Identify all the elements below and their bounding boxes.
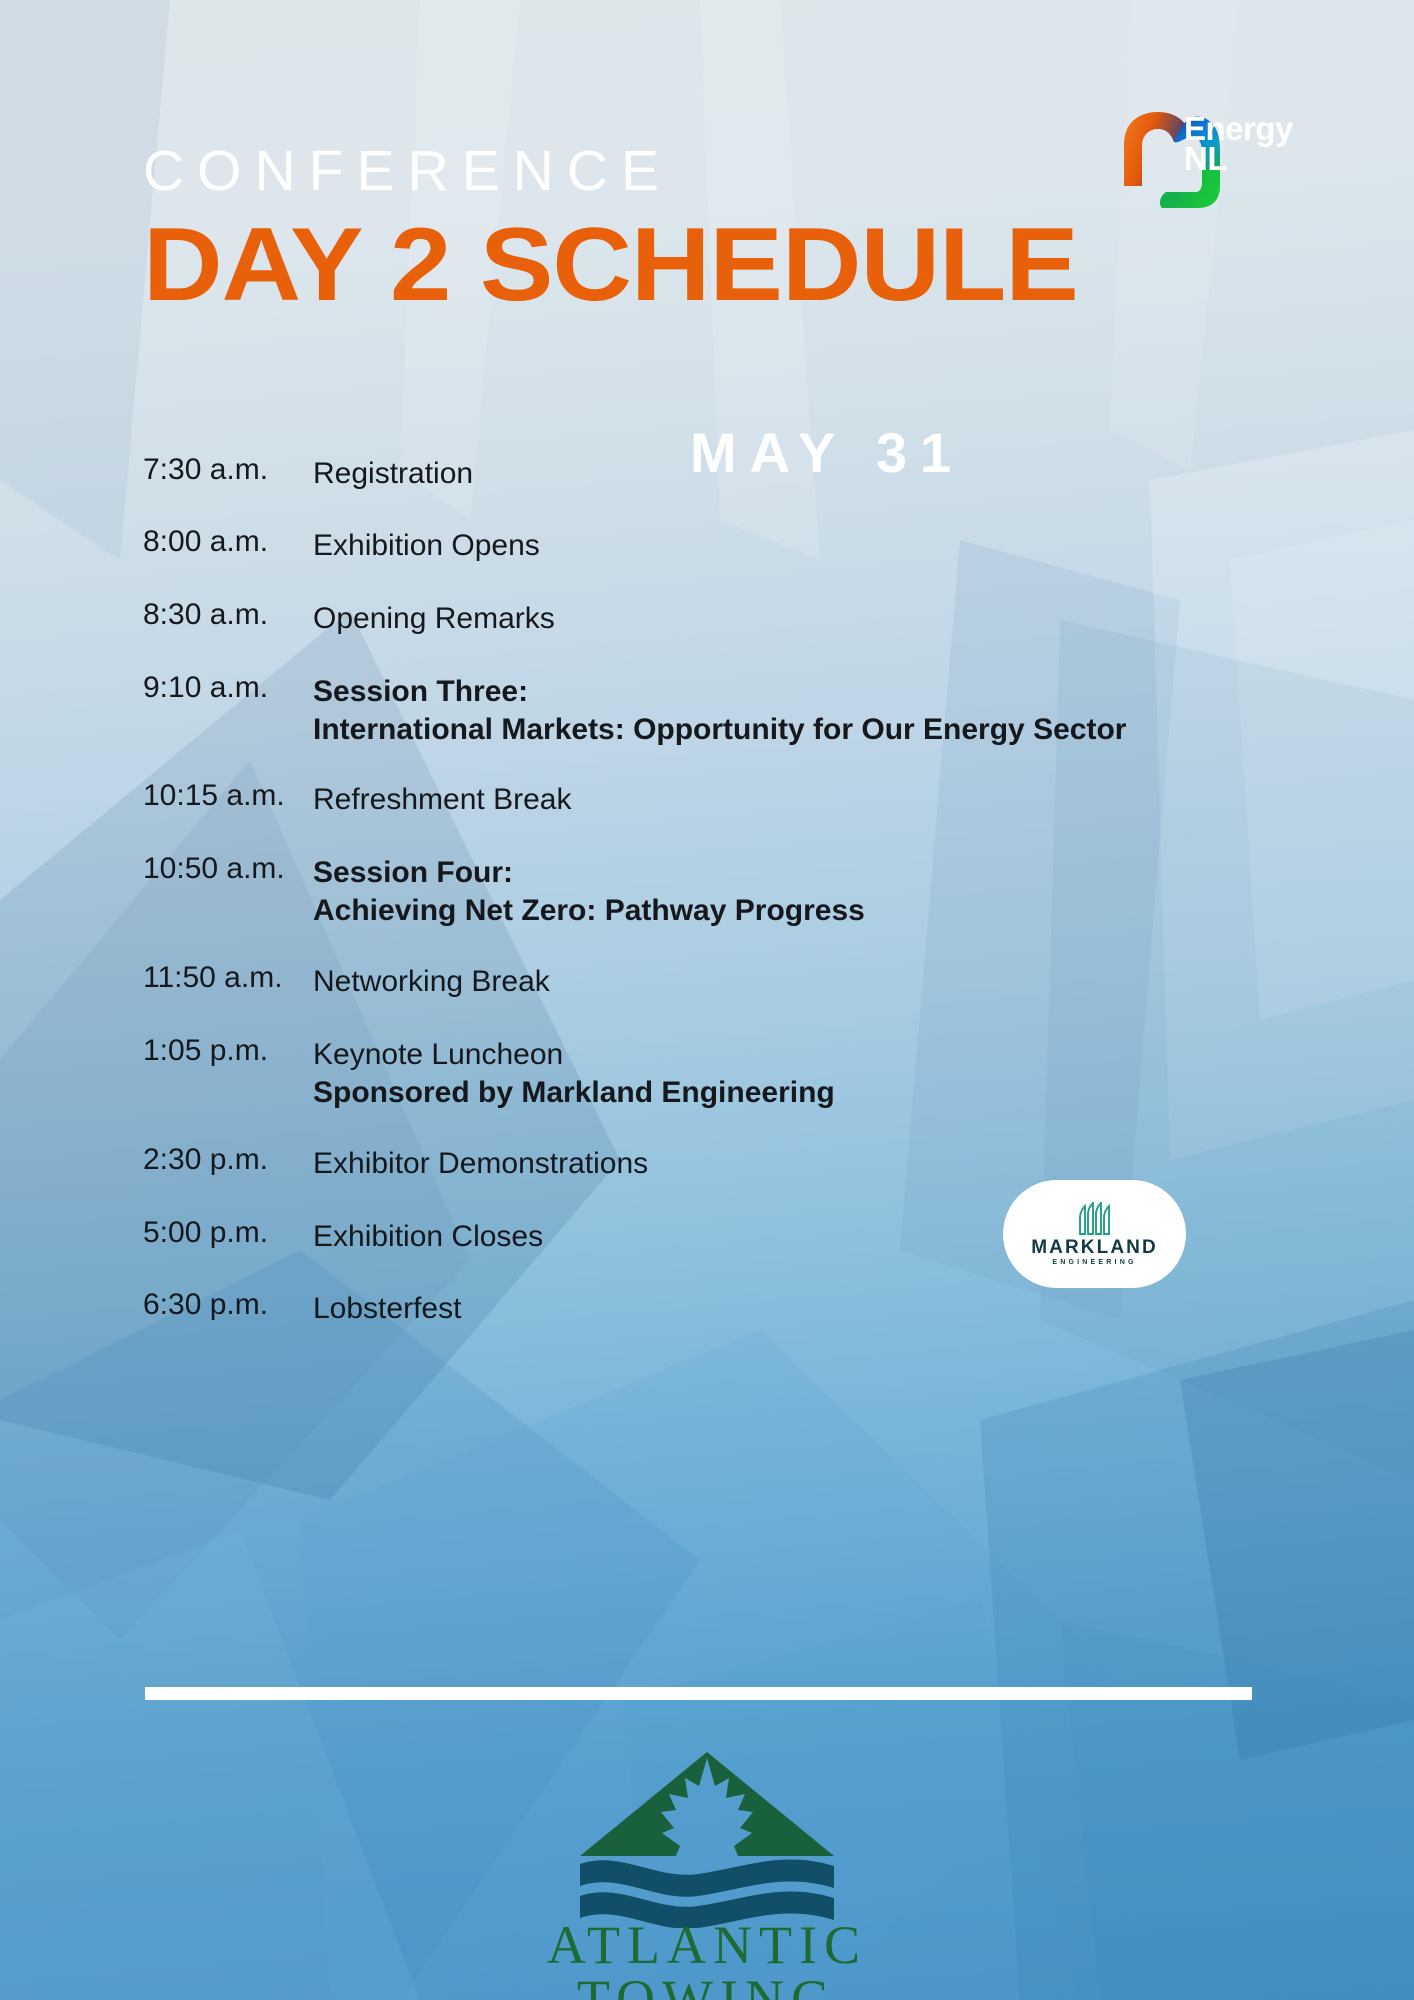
schedule-row-description: Session Three:International Markets: Opp… bbox=[313, 673, 1323, 748]
schedule-row-description: Lobsterfest bbox=[313, 1290, 1323, 1328]
schedule-row: 6:30 p.m.Lobsterfest bbox=[143, 1290, 1323, 1328]
schedule-row: 2:30 p.m.Exhibitor Demonstrations bbox=[143, 1145, 1323, 1183]
schedule-row-description: Registration bbox=[313, 455, 1323, 493]
energy-nl-line2: NL bbox=[1184, 144, 1293, 174]
schedule-row-description: Exhibition Opens bbox=[313, 527, 1323, 565]
schedule-row-description: Refreshment Break bbox=[313, 781, 1323, 819]
markland-subtitle: ENGINEERING bbox=[1052, 1259, 1136, 1266]
schedule-row-time: 5:00 p.m. bbox=[143, 1218, 313, 1248]
energy-nl-wordmark: Energy NL bbox=[1184, 114, 1293, 175]
schedule-row: 10:15 a.m.Refreshment Break bbox=[143, 781, 1323, 819]
schedule-row-title: Keynote Luncheon bbox=[313, 1036, 1323, 1074]
schedule-row-time: 2:30 p.m. bbox=[143, 1145, 313, 1175]
schedule-row-subtitle: Sponsored by Markland Engineering bbox=[313, 1074, 1323, 1112]
markland-sponsor-logo: MARKLAND ENGINEERING bbox=[1003, 1180, 1186, 1288]
schedule-row-description: Session Four:Achieving Net Zero: Pathway… bbox=[313, 854, 1323, 929]
schedule-row: 11:50 a.m.Networking Break bbox=[143, 963, 1323, 1001]
schedule-row: 8:00 a.m.Exhibition Opens bbox=[143, 527, 1323, 565]
schedule-row-time: 6:30 p.m. bbox=[143, 1290, 313, 1320]
schedule-row: 1:05 p.m.Keynote LuncheonSponsored by Ma… bbox=[143, 1036, 1323, 1111]
schedule-row-title: Networking Break bbox=[313, 963, 1323, 1001]
schedule-row-description: Opening Remarks bbox=[313, 600, 1323, 638]
schedule-row: 10:50 a.m.Session Four:Achieving Net Zer… bbox=[143, 854, 1323, 929]
schedule-row-title: Refreshment Break bbox=[313, 781, 1323, 819]
kicker-conference: CONFERENCE bbox=[143, 143, 1025, 200]
markland-grass-blades-icon bbox=[1073, 1202, 1117, 1236]
page-title: DAY 2 SCHEDULE bbox=[143, 216, 1078, 316]
schedule-row-time: 10:15 a.m. bbox=[143, 781, 313, 811]
schedule-row-time: 8:00 a.m. bbox=[143, 527, 313, 557]
conference-schedule-poster: CONFERENCE DAY 2 SCHEDULE MAY 31 bbox=[0, 0, 1414, 2000]
schedule-row-time: 9:10 a.m. bbox=[143, 673, 313, 703]
schedule-row-time: 8:30 a.m. bbox=[143, 600, 313, 630]
schedule-row-time: 7:30 a.m. bbox=[143, 455, 313, 485]
atlantic-towing-logo: ATLANTIC TOWING bbox=[430, 1728, 984, 1990]
schedule-row-title: Session Three: bbox=[313, 673, 1323, 711]
schedule-row-time: 1:05 p.m. bbox=[143, 1036, 313, 1066]
schedule-row-subtitle: Achieving Net Zero: Pathway Progress bbox=[313, 892, 1323, 930]
schedule-row-title: Registration bbox=[313, 455, 1323, 493]
schedule-row-subtitle: International Markets: Opportunity for O… bbox=[313, 711, 1323, 749]
energy-nl-logo: Energy NL bbox=[1118, 108, 1298, 218]
schedule-row: 7:30 a.m.Registration bbox=[143, 455, 1323, 493]
schedule-row: 9:10 a.m.Session Three:International Mar… bbox=[143, 673, 1323, 748]
schedule-row: 8:30 a.m.Opening Remarks bbox=[143, 600, 1323, 638]
schedule-row-title: Exhibitor Demonstrations bbox=[313, 1145, 1323, 1183]
schedule-row-time: 11:50 a.m. bbox=[143, 963, 313, 993]
schedule-row-title: Session Four: bbox=[313, 854, 1323, 892]
schedule-row-title: Exhibition Opens bbox=[313, 527, 1323, 565]
maple-leaf-mountain-waves-icon bbox=[430, 1728, 984, 1928]
schedule-row-description: Networking Break bbox=[313, 963, 1323, 1001]
section-divider bbox=[145, 1687, 1252, 1700]
schedule-row-description: Keynote LuncheonSponsored by Markland En… bbox=[313, 1036, 1323, 1111]
schedule-row-description: Exhibitor Demonstrations bbox=[313, 1145, 1323, 1183]
poster-header: CONFERENCE DAY 2 SCHEDULE bbox=[143, 143, 1025, 316]
schedule-row-time: 10:50 a.m. bbox=[143, 854, 313, 884]
schedule-row-title: Lobsterfest bbox=[313, 1290, 1323, 1328]
markland-name: MARKLAND bbox=[1031, 1238, 1158, 1257]
schedule-row-title: Opening Remarks bbox=[313, 600, 1323, 638]
atlantic-towing-wordmark: ATLANTIC TOWING bbox=[430, 1918, 984, 2000]
